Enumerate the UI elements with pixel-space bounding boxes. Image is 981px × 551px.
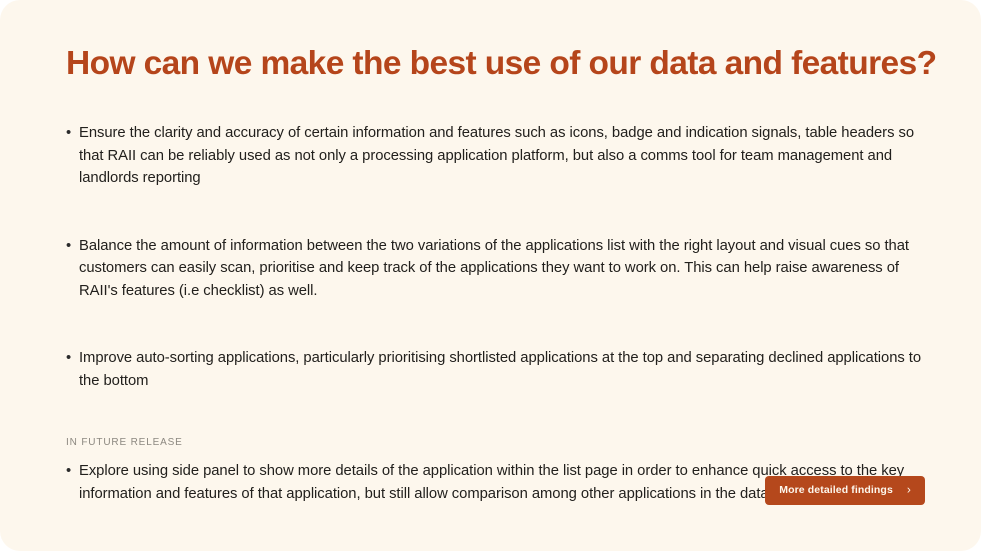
- bullet-dot-icon: •: [66, 347, 79, 370]
- chevron-right-icon: ›: [907, 484, 911, 496]
- list-item-text: Balance the amount of information betwee…: [79, 235, 928, 303]
- bullet-dot-icon: •: [66, 460, 79, 483]
- list-item: • Balance the amount of information betw…: [66, 235, 928, 303]
- page-title: How can we make the best use of our data…: [66, 44, 946, 84]
- list-item: • Improve auto-sorting applications, par…: [66, 347, 928, 392]
- list-item-text: Ensure the clarity and accuracy of certa…: [79, 122, 928, 190]
- section-label-future-release: IN FUTURE RELEASE: [66, 436, 928, 450]
- cta-label: More detailed findings: [779, 485, 893, 496]
- slide-body: • Ensure the clarity and accuracy of cer…: [66, 122, 928, 505]
- list-item-text: Improve auto-sorting applications, parti…: [79, 347, 928, 392]
- more-detailed-findings-button[interactable]: More detailed findings ›: [765, 476, 925, 505]
- bullet-dot-icon: •: [66, 235, 79, 258]
- slide-container: How can we make the best use of our data…: [0, 0, 981, 551]
- list-item: • Ensure the clarity and accuracy of cer…: [66, 122, 928, 190]
- bullet-dot-icon: •: [66, 122, 79, 145]
